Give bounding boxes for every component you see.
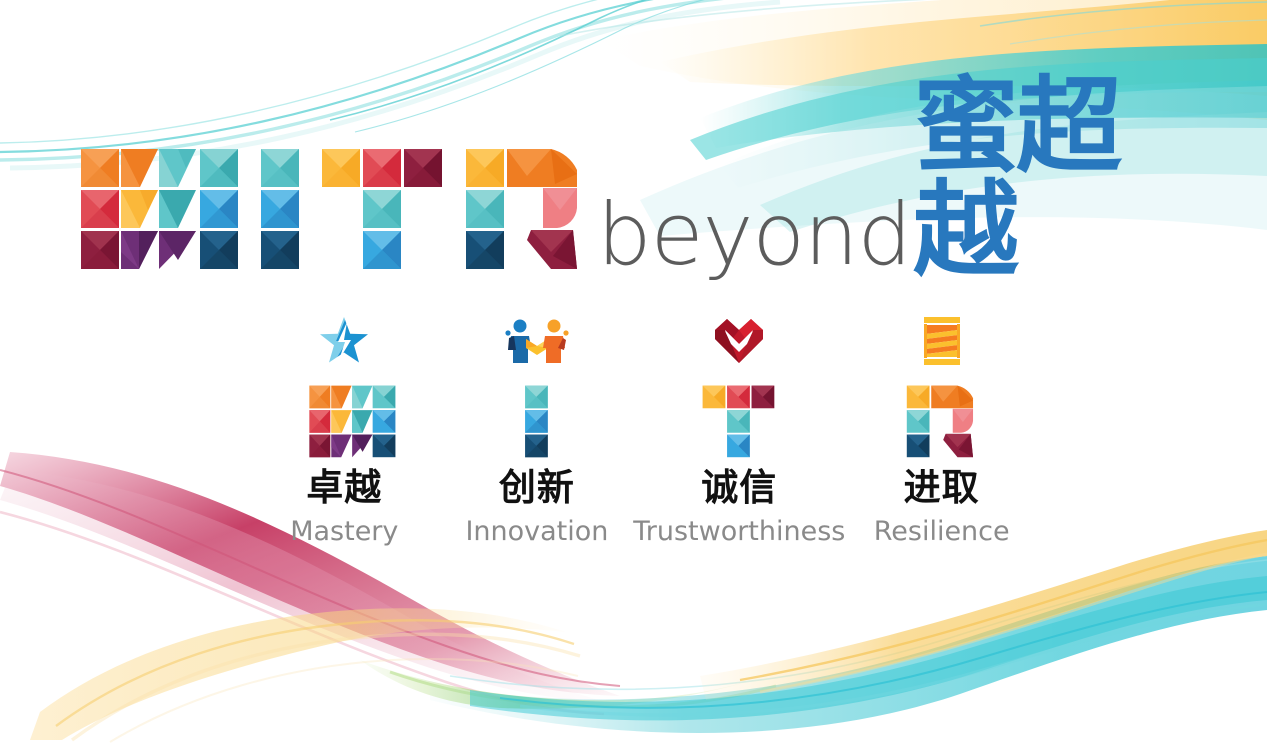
tile [373,435,396,458]
poster-canvas: beyond 蜜超越 [0,0,1267,743]
tile [310,435,331,458]
mosaic-letter-m-small [290,381,398,463]
brand-wordmark: beyond 蜜超越 [80,132,1190,272]
tile [943,434,973,457]
tile [200,149,238,187]
tile [703,386,726,409]
tile [352,386,372,409]
wordmark-mosaic-letters [80,148,585,272]
spring-coil-icon [922,315,962,367]
tile [525,435,548,458]
tile [159,231,196,269]
tile [322,149,360,187]
tile [81,190,119,228]
tile [159,149,196,187]
tile [332,386,352,409]
tile [752,386,775,409]
value-chinese-label: 卓越 [306,469,382,506]
tile [261,231,299,269]
tile [525,386,548,409]
value-column-trustworthiness: 诚信 Trustworthiness [633,315,845,575]
tile [363,231,401,269]
value-english-label: Trustworthiness [633,518,845,545]
tile [523,230,577,269]
value-english-label: Innovation [465,518,608,545]
tile [906,386,929,409]
wordmark-beyond-text: beyond [597,192,911,278]
value-english-label: Resilience [874,518,1010,545]
tile [727,410,750,433]
value-chinese-label: 诚信 [701,469,777,506]
tile [352,410,372,433]
mosaic-letter-m-stem [199,148,241,272]
tile [507,149,577,187]
tile [727,435,750,458]
mosaic-letter-r-small [906,381,978,463]
tile [81,231,119,269]
tile [310,386,331,409]
value-chinese-label: 进取 [904,469,980,506]
value-column-resilience: 进取 Resilience [845,315,1038,575]
tile [121,231,158,269]
tile [261,190,299,228]
wordmark-chinese-text: 蜜超越 [913,74,1195,282]
tile [121,190,158,228]
tile [352,435,372,458]
tile [952,409,972,433]
tile [200,190,238,228]
star-lightning-icon [317,315,371,367]
tile [332,435,352,458]
tile [310,410,331,433]
tile [404,149,442,187]
tile [159,190,196,228]
mosaic-letter-t-small [702,381,776,463]
tile [373,410,396,433]
tile [121,149,158,187]
mosaic-letter-i [260,148,302,272]
heart-icon [711,315,767,367]
mosaic-letter-m [80,148,198,272]
core-values-row: 卓越 Mastery [248,315,1038,575]
mosaic-letter-r [465,148,585,272]
mosaic-letter-t [321,148,445,272]
value-column-innovation: 创新 Innovation [441,315,634,575]
tile [727,386,750,409]
tile [81,149,119,187]
tile [906,435,929,458]
value-chinese-label: 创新 [499,469,575,506]
tile [466,231,504,269]
tile [466,149,504,187]
tile [373,386,396,409]
mosaic-letter-i-small [524,381,550,463]
tile [507,194,541,226]
tile [466,190,504,228]
tile [332,410,352,433]
tile [363,190,401,228]
tile [931,386,973,409]
tile [261,149,299,187]
tile [525,410,548,433]
value-english-label: Mastery [290,518,398,545]
tile [200,231,238,269]
tile [363,149,401,187]
two-people-handshake-icon [504,315,570,367]
tile [906,410,929,433]
value-column-mastery: 卓越 Mastery [248,315,441,575]
